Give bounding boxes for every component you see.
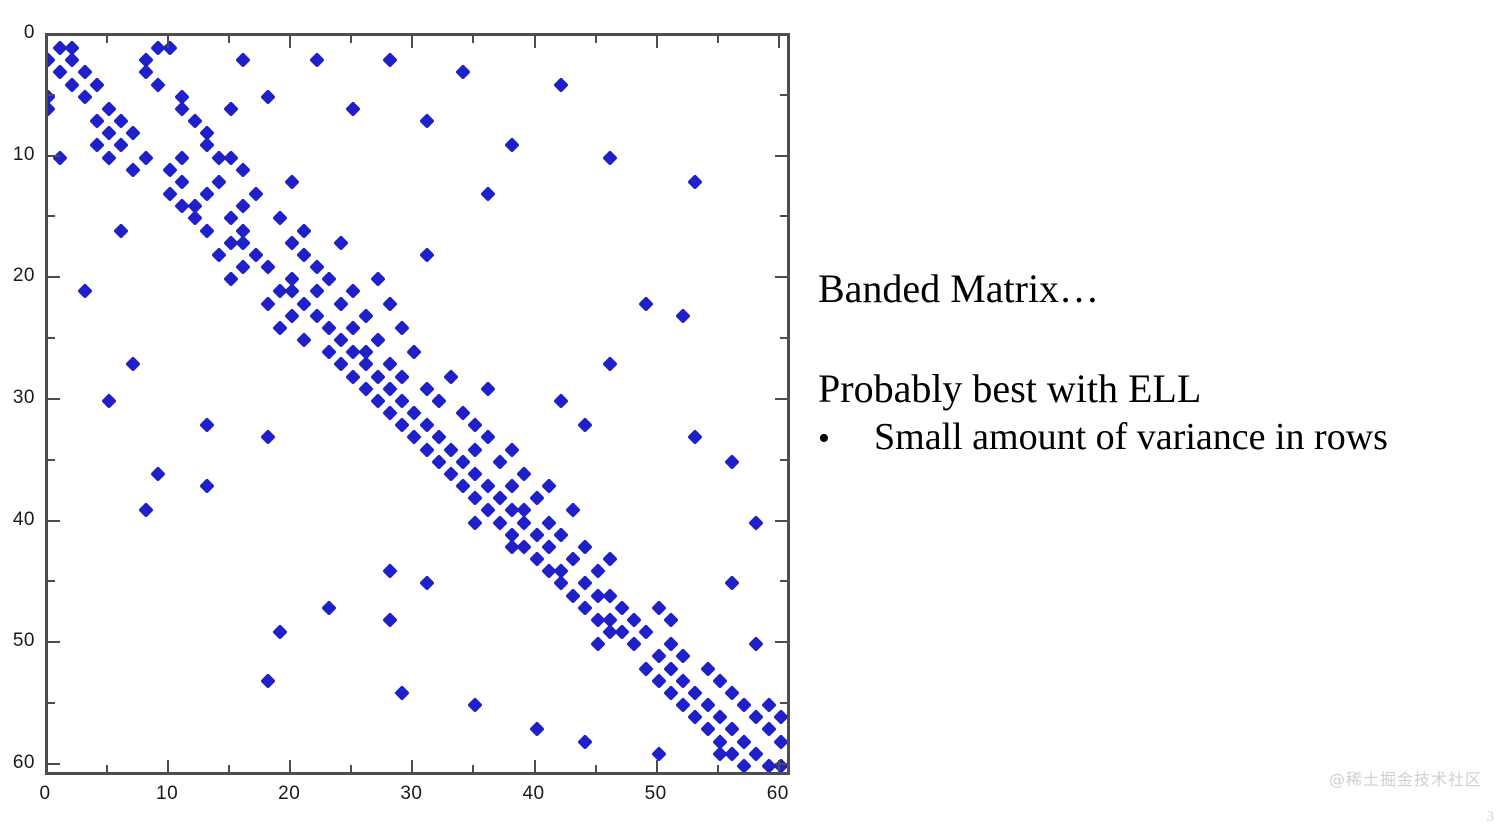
y-axis-tick-label: 60 <box>13 752 35 774</box>
scatter-marker <box>773 734 787 750</box>
y-axis-major-tick <box>47 763 60 765</box>
scatter-marker <box>431 430 447 446</box>
y-axis-minor-tick <box>780 702 788 704</box>
scatter-marker <box>236 53 252 69</box>
scatter-marker <box>309 308 325 324</box>
scatter-marker <box>712 709 728 725</box>
scatter-marker <box>626 636 642 652</box>
scatter-marker <box>565 503 581 519</box>
scatter-marker <box>89 113 105 129</box>
y-axis-minor-tick <box>780 94 788 96</box>
scatter-marker <box>89 77 105 93</box>
scatter-marker <box>309 259 325 275</box>
x-axis-major-tick <box>656 760 658 773</box>
scatter-marker <box>236 235 252 251</box>
scatter-marker <box>52 65 68 81</box>
scatter-marker <box>333 296 349 312</box>
scatter-marker <box>89 138 105 154</box>
scatter-marker <box>541 515 557 531</box>
scatter-marker <box>517 515 533 531</box>
scatter-marker <box>431 454 447 470</box>
scatter-marker <box>700 722 716 738</box>
scatter-marker <box>346 284 362 300</box>
scatter-marker <box>553 527 569 543</box>
scatter-marker <box>736 697 752 713</box>
x-axis-tick-label: 20 <box>278 783 300 805</box>
scatter-marker <box>419 113 435 129</box>
scatter-marker <box>504 478 520 494</box>
scatter-marker <box>382 612 398 628</box>
scatter-marker <box>419 247 435 263</box>
y-axis-major-tick <box>47 641 60 643</box>
x-axis-minor-tick <box>350 765 352 773</box>
y-axis-minor-tick <box>47 459 55 461</box>
x-axis-tick-label: 60 <box>767 783 789 805</box>
y-axis-tick-label: 50 <box>13 630 35 652</box>
scatter-marker <box>211 174 227 190</box>
scatter-marker <box>553 393 569 409</box>
plot-frame <box>45 33 790 775</box>
y-axis-minor-tick <box>47 337 55 339</box>
scatter-marker <box>272 320 288 336</box>
y-axis-minor-tick <box>47 215 55 217</box>
y-axis-minor-tick <box>780 459 788 461</box>
y-axis-minor-tick <box>780 215 788 217</box>
scatter-marker <box>394 685 410 701</box>
scatter-marker <box>113 113 129 129</box>
scatter-marker <box>761 697 777 713</box>
scatter-marker <box>455 405 471 421</box>
scatter-marker <box>724 685 740 701</box>
scatter-marker <box>65 53 81 69</box>
scatter-marker <box>394 417 410 433</box>
scatter-marker <box>675 649 691 665</box>
scatter-marker <box>565 551 581 567</box>
scatter-marker <box>309 53 325 69</box>
scatter-marker <box>236 199 252 215</box>
scatter-marker <box>724 454 740 470</box>
scatter-marker <box>773 758 787 772</box>
scatter-marker <box>504 442 520 458</box>
scatter-marker <box>199 138 215 154</box>
scatter-marker <box>468 515 484 531</box>
scatter-marker <box>175 150 191 166</box>
scatter-marker <box>724 576 740 592</box>
scatter-marker <box>578 734 594 750</box>
scatter-marker <box>724 722 740 738</box>
scatter-marker <box>370 271 386 287</box>
scatter-marker <box>333 235 349 251</box>
scatter-marker <box>284 174 300 190</box>
scatter-marker <box>175 174 191 190</box>
scatter-marker <box>663 685 679 701</box>
scatter-marker <box>419 576 435 592</box>
y-axis-minor-tick <box>47 702 55 704</box>
scatter-marker <box>248 186 264 202</box>
scatter-marker <box>553 77 569 93</box>
scatter-marker <box>321 320 337 336</box>
x-axis-major-tick <box>167 35 169 48</box>
scatter-marker <box>455 65 471 81</box>
y-axis-major-tick <box>775 641 788 643</box>
scatter-marker <box>517 539 533 555</box>
page-number: 3 <box>1487 809 1495 826</box>
scatter-marker <box>394 320 410 336</box>
scatter-marker <box>150 466 166 482</box>
x-axis-major-tick <box>411 760 413 773</box>
scatter-marker <box>663 612 679 628</box>
scatter-marker <box>639 296 655 312</box>
slide-text-panel: Banded Matrix… Probably best with ELL • … <box>818 0 1498 828</box>
scatter-marker <box>749 709 765 725</box>
scatter-marker <box>639 624 655 640</box>
y-axis-major-tick <box>47 33 60 35</box>
scatter-marker <box>297 332 313 348</box>
heading-banded-matrix: Banded Matrix… <box>818 265 1099 312</box>
scatter-marker <box>297 296 313 312</box>
scatter-marker <box>431 393 447 409</box>
scatter-marker <box>419 442 435 458</box>
scatter-marker <box>773 709 787 725</box>
y-axis-major-tick <box>47 398 60 400</box>
scatter-marker <box>223 150 239 166</box>
scatter-marker <box>382 381 398 397</box>
scatter-marker <box>736 758 752 772</box>
scatter-marker <box>260 89 276 105</box>
scatter-marker <box>675 697 691 713</box>
scatter-marker <box>529 722 545 738</box>
scatter-marker <box>394 369 410 385</box>
x-axis-minor-tick <box>106 765 108 773</box>
scatter-marker <box>236 162 252 178</box>
scatter-marker <box>260 296 276 312</box>
scatter-marker <box>162 162 178 178</box>
scatter-marker <box>199 223 215 239</box>
x-axis-major-tick <box>289 760 291 773</box>
scatter-marker <box>541 539 557 555</box>
spy-plot-chart: 01020304050600102030405060 <box>0 0 810 828</box>
scatter-marker <box>382 563 398 579</box>
scatter-marker <box>663 661 679 677</box>
scatter-marker <box>321 271 337 287</box>
scatter-marker <box>578 417 594 433</box>
scatter-marker <box>187 211 203 227</box>
scatter-marker <box>333 332 349 348</box>
scatter-marker <box>468 466 484 482</box>
scatter-marker <box>749 636 765 652</box>
scatter-marker <box>382 296 398 312</box>
x-axis-minor-tick <box>228 35 230 43</box>
y-axis-tick-label: 30 <box>13 387 35 409</box>
scatter-marker <box>443 369 459 385</box>
scatter-marker <box>382 405 398 421</box>
scatter-marker <box>688 709 704 725</box>
scatter-marker <box>260 673 276 689</box>
scatter-marker <box>614 600 630 616</box>
x-axis-major-tick <box>289 35 291 48</box>
scatter-marker <box>284 235 300 251</box>
scatter-marker <box>175 101 191 117</box>
bullet-list-item: • Small amount of variance in rows <box>818 415 1388 459</box>
y-axis-major-tick <box>775 33 788 35</box>
scatter-marker <box>712 673 728 689</box>
x-axis-minor-tick <box>595 765 597 773</box>
scatter-marker <box>663 636 679 652</box>
scatter-marker <box>590 636 606 652</box>
scatter-marker <box>675 308 691 324</box>
scatter-marker <box>578 600 594 616</box>
scatter-marker <box>101 101 117 117</box>
scatter-marker <box>48 53 56 69</box>
y-axis-minor-tick <box>780 580 788 582</box>
y-axis-major-tick <box>47 276 60 278</box>
scatter-marker <box>272 211 288 227</box>
scatter-marker <box>468 442 484 458</box>
y-axis-minor-tick <box>780 337 788 339</box>
slide-root: 01020304050600102030405060 Banded Matrix… <box>0 0 1500 828</box>
scatter-marker <box>346 369 362 385</box>
scatter-marker <box>309 284 325 300</box>
scatter-marker <box>101 126 117 142</box>
scatter-marker <box>492 454 508 470</box>
x-axis-tick-label: 50 <box>645 783 667 805</box>
x-axis-major-tick <box>534 760 536 773</box>
scatter-marker <box>162 186 178 202</box>
x-axis-minor-tick <box>717 765 719 773</box>
scatter-marker <box>602 551 618 567</box>
y-axis-tick-label: 40 <box>13 509 35 531</box>
scatter-marker <box>541 478 557 494</box>
x-axis-minor-tick <box>717 35 719 43</box>
y-axis-major-tick <box>775 398 788 400</box>
scatter-marker <box>199 478 215 494</box>
scatter-marker <box>223 101 239 117</box>
x-axis-tick-label: 40 <box>522 783 544 805</box>
x-axis-minor-tick <box>472 765 474 773</box>
x-axis-tick-label: 0 <box>39 783 50 805</box>
scatter-marker <box>529 527 545 543</box>
scatter-marker <box>199 417 215 433</box>
x-axis-tick-label: 10 <box>156 783 178 805</box>
scatter-marker <box>480 478 496 494</box>
scatter-marker <box>443 442 459 458</box>
scatter-marker <box>358 308 374 324</box>
scatter-marker <box>407 344 423 360</box>
scatter-marker <box>321 344 337 360</box>
scatter-marker <box>48 101 56 117</box>
x-axis-major-tick <box>167 760 169 773</box>
scatter-marker <box>150 77 166 93</box>
scatter-marker <box>284 308 300 324</box>
scatter-marker <box>358 357 374 373</box>
scatter-marker <box>77 89 93 105</box>
scatter-marker <box>101 150 117 166</box>
scatter-marker <box>688 685 704 701</box>
scatter-marker <box>553 576 569 592</box>
scatter-marker <box>187 113 203 129</box>
scatter-marker <box>260 430 276 446</box>
scatter-marker <box>346 320 362 336</box>
scatter-marker <box>492 490 508 506</box>
x-axis-major-tick <box>45 35 47 48</box>
scatter-marker <box>370 332 386 348</box>
scatter-marker <box>578 539 594 555</box>
scatter-marker <box>736 734 752 750</box>
x-axis-minor-tick <box>228 765 230 773</box>
scatter-marker <box>382 357 398 373</box>
scatter-marker <box>138 65 154 81</box>
scatter-marker <box>529 490 545 506</box>
scatter-marker <box>248 247 264 263</box>
scatter-marker <box>162 40 178 56</box>
scatter-marker <box>480 503 496 519</box>
scatter-marker <box>284 284 300 300</box>
scatter-marker <box>468 490 484 506</box>
bullet-item-label: Small amount of variance in rows <box>874 415 1388 459</box>
x-axis-minor-tick <box>472 35 474 43</box>
scatter-marker <box>602 357 618 373</box>
scatter-marker <box>455 454 471 470</box>
scatter-marker <box>761 722 777 738</box>
y-axis-major-tick <box>775 276 788 278</box>
scatter-marker <box>370 369 386 385</box>
scatter-marker <box>565 588 581 604</box>
scatter-marker <box>504 138 520 154</box>
scatter-marker <box>590 563 606 579</box>
scatter-marker <box>578 576 594 592</box>
scatter-marker <box>651 746 667 762</box>
scatter-marker <box>407 430 423 446</box>
scatter-marker <box>138 150 154 166</box>
x-axis-major-tick <box>411 35 413 48</box>
scatter-marker <box>443 466 459 482</box>
scatter-marker <box>529 551 545 567</box>
scatter-marker <box>675 673 691 689</box>
scatter-marker <box>639 661 655 677</box>
y-axis-tick-label: 20 <box>13 265 35 287</box>
y-axis-major-tick <box>775 155 788 157</box>
scatter-marker <box>651 600 667 616</box>
x-axis-minor-tick <box>595 35 597 43</box>
scatter-marker <box>700 697 716 713</box>
scatter-marker <box>272 624 288 640</box>
bullet-point-icon: • <box>818 420 874 458</box>
scatter-marker <box>419 417 435 433</box>
watermark-text: @稀土掘金技术社区 <box>1329 766 1482 790</box>
x-axis-major-tick <box>778 35 780 48</box>
heading-probably-best-with-ell: Probably best with ELL <box>818 365 1201 412</box>
scatter-marker <box>113 138 129 154</box>
scatter-marker <box>65 77 81 93</box>
y-axis-minor-tick <box>47 94 55 96</box>
scatter-marker <box>614 624 630 640</box>
y-axis-major-tick <box>47 155 60 157</box>
scatter-marker <box>138 503 154 519</box>
scatter-marker <box>101 393 117 409</box>
scatter-marker <box>77 65 93 81</box>
scatter-marker <box>223 211 239 227</box>
y-axis-minor-tick <box>47 580 55 582</box>
scatter-marker <box>321 600 337 616</box>
scatter-marker <box>394 393 410 409</box>
scatter-marker <box>480 186 496 202</box>
scatter-marker <box>602 588 618 604</box>
scatter-marker <box>126 126 142 142</box>
scatter-marker <box>700 661 716 677</box>
scatter-marker <box>297 247 313 263</box>
scatter-marker <box>126 357 142 373</box>
scatter-marker <box>602 150 618 166</box>
scatter-marker <box>223 271 239 287</box>
scatter-marker <box>468 417 484 433</box>
x-axis-minor-tick <box>106 35 108 43</box>
scatter-marker <box>480 381 496 397</box>
scatter-marker <box>468 697 484 713</box>
scatter-marker <box>199 186 215 202</box>
y-axis-major-tick <box>775 763 788 765</box>
x-axis-minor-tick <box>350 35 352 43</box>
scatter-marker <box>626 612 642 628</box>
scatter-marker <box>517 466 533 482</box>
scatter-marker <box>724 746 740 762</box>
scatter-marker <box>211 247 227 263</box>
x-axis-tick-label: 30 <box>400 783 422 805</box>
scatter-marker <box>113 223 129 239</box>
scatter-marker <box>688 430 704 446</box>
scatter-marker <box>260 259 276 275</box>
y-axis-major-tick <box>47 520 60 522</box>
scatter-marker <box>492 515 508 531</box>
scatter-marker <box>749 746 765 762</box>
scatter-marker <box>455 478 471 494</box>
scatter-marker <box>749 515 765 531</box>
scatter-marker <box>333 357 349 373</box>
scatter-marker <box>52 150 68 166</box>
scatter-marker <box>480 430 496 446</box>
y-axis-tick-label: 10 <box>13 144 35 166</box>
scatter-marker <box>370 393 386 409</box>
plot-data-area <box>48 36 787 772</box>
scatter-marker <box>297 223 313 239</box>
scatter-marker <box>651 649 667 665</box>
scatter-marker <box>346 101 362 117</box>
scatter-marker <box>688 174 704 190</box>
scatter-marker <box>382 53 398 69</box>
scatter-marker <box>407 405 423 421</box>
scatter-marker <box>77 284 93 300</box>
scatter-marker <box>651 673 667 689</box>
x-axis-major-tick <box>656 35 658 48</box>
scatter-marker <box>358 381 374 397</box>
y-axis-major-tick <box>775 520 788 522</box>
y-axis-tick-label: 0 <box>24 22 35 44</box>
scatter-marker <box>236 259 252 275</box>
scatter-marker <box>126 162 142 178</box>
scatter-marker <box>419 381 435 397</box>
x-axis-major-tick <box>534 35 536 48</box>
